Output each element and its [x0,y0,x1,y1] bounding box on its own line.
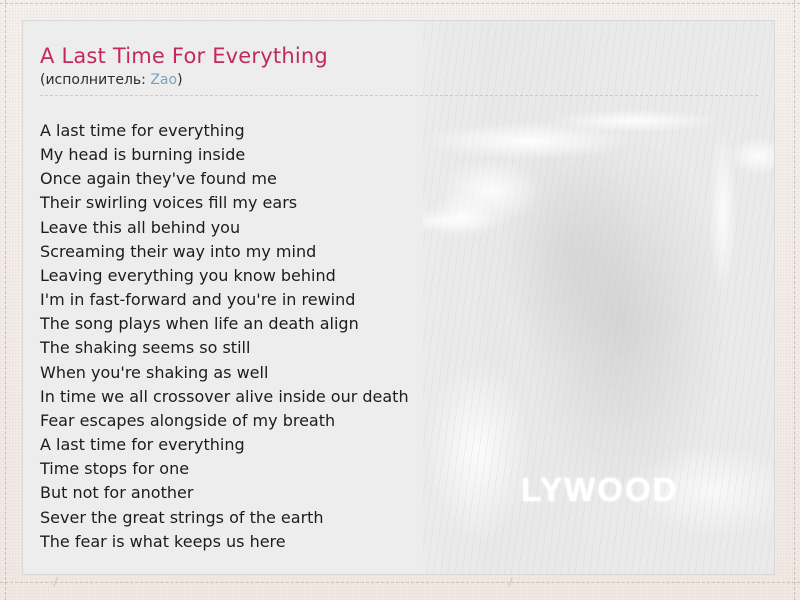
lyric-line: I'm in fast-forward and you're in rewind [40,288,740,312]
lyric-line: But not for another [40,481,740,505]
artist-link[interactable]: Zao [150,72,177,88]
lyric-line: The song plays when life an death align [40,312,740,336]
lyric-line: Fear escapes alongside of my breath [40,409,740,433]
lyric-line: When you're shaking as well [40,361,740,385]
lyrics-panel: LYWOOD A Last Time For Everything (испол… [22,20,775,575]
lyrics-body: A last time for everythingMy head is bur… [40,119,740,554]
lyric-line: Leave this all behind you [40,216,740,240]
guide-line-left [5,0,6,600]
lyric-line: My head is burning inside [40,143,740,167]
artist-prefix-label: (исполнитель: [40,72,150,88]
lyric-line: A last time for everything [40,433,740,457]
guide-tick [53,577,57,587]
lyric-line: A last time for everything [40,119,740,143]
guide-tick [508,577,512,587]
lyric-line: The fear is what keeps us here [40,530,740,554]
lyric-line: Leaving everything you know behind [40,264,740,288]
lyric-line: Screaming their way into my mind [40,240,740,264]
lyric-line: Once again they've found me [40,167,740,191]
artist-suffix-label: ) [177,72,182,88]
lyric-line: The shaking seems so still [40,336,740,360]
lyric-line: Time stops for one [40,457,740,481]
guide-line-top [0,3,800,4]
guide-line-bottom [0,582,800,583]
page-frame: LYWOOD A Last Time For Everything (испол… [0,0,800,600]
lyric-line: Sever the great strings of the earth [40,506,740,530]
lyric-line: Their swirling voices fill my ears [40,191,740,215]
lyric-line: In time we all crossover alive inside ou… [40,385,740,409]
guide-line-right [794,0,795,600]
page-title: A Last Time For Everything [40,43,758,69]
song-header: A Last Time For Everything (исполнитель:… [40,43,758,96]
artist-line: (исполнитель: Zao) [40,71,758,89]
